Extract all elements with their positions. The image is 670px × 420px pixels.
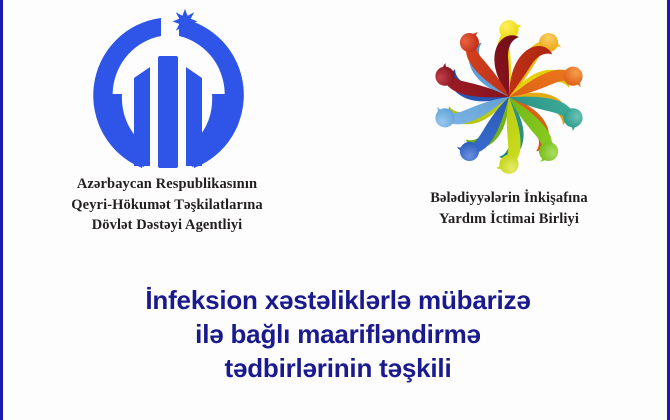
left-organization-block: Azərbaycan Respublikasının Qeyri-Hökumət… xyxy=(17,6,317,236)
azerbaijan-ngo-agency-emblem-icon xyxy=(17,6,317,174)
right-org-name-line-2: Yardım İctimai Birliyi xyxy=(359,209,659,230)
headline-line-3: tədbirlərinin təşkili xyxy=(23,352,653,386)
right-organization-name: Bələdiyyələrin İnkişafına Yardım İctimai… xyxy=(359,188,659,229)
left-organization-name: Azərbaycan Respublikasının Qeyri-Hökumət… xyxy=(17,174,317,236)
left-org-name-line-3: Dövlət Dəstəyi Agentliyi xyxy=(17,215,317,236)
logo-band: Azərbaycan Respublikasının Qeyri-Hökumət… xyxy=(3,0,670,250)
municipality-union-emblem-icon xyxy=(359,6,659,188)
right-organization-block: Bələdiyyələrin İnkişafına Yardım İctimai… xyxy=(359,6,659,229)
poster-headline: İnfeksion xəstəliklərlə mübarizə ilə bağ… xyxy=(23,284,653,385)
headline-line-1: İnfeksion xəstəliklərlə mübarizə xyxy=(23,284,653,318)
headline-line-2: ilə bağlı maarifləndirmə xyxy=(23,318,653,352)
right-org-name-line-1: Bələdiyyələrin İnkişafına xyxy=(359,188,659,209)
left-org-name-line-1: Azərbaycan Respublikasının xyxy=(17,174,317,195)
left-org-name-line-2: Qeyri-Hökumət Təşkilatlarına xyxy=(17,195,317,216)
poster-canvas: Azərbaycan Respublikasının Qeyri-Hökumət… xyxy=(0,0,670,420)
